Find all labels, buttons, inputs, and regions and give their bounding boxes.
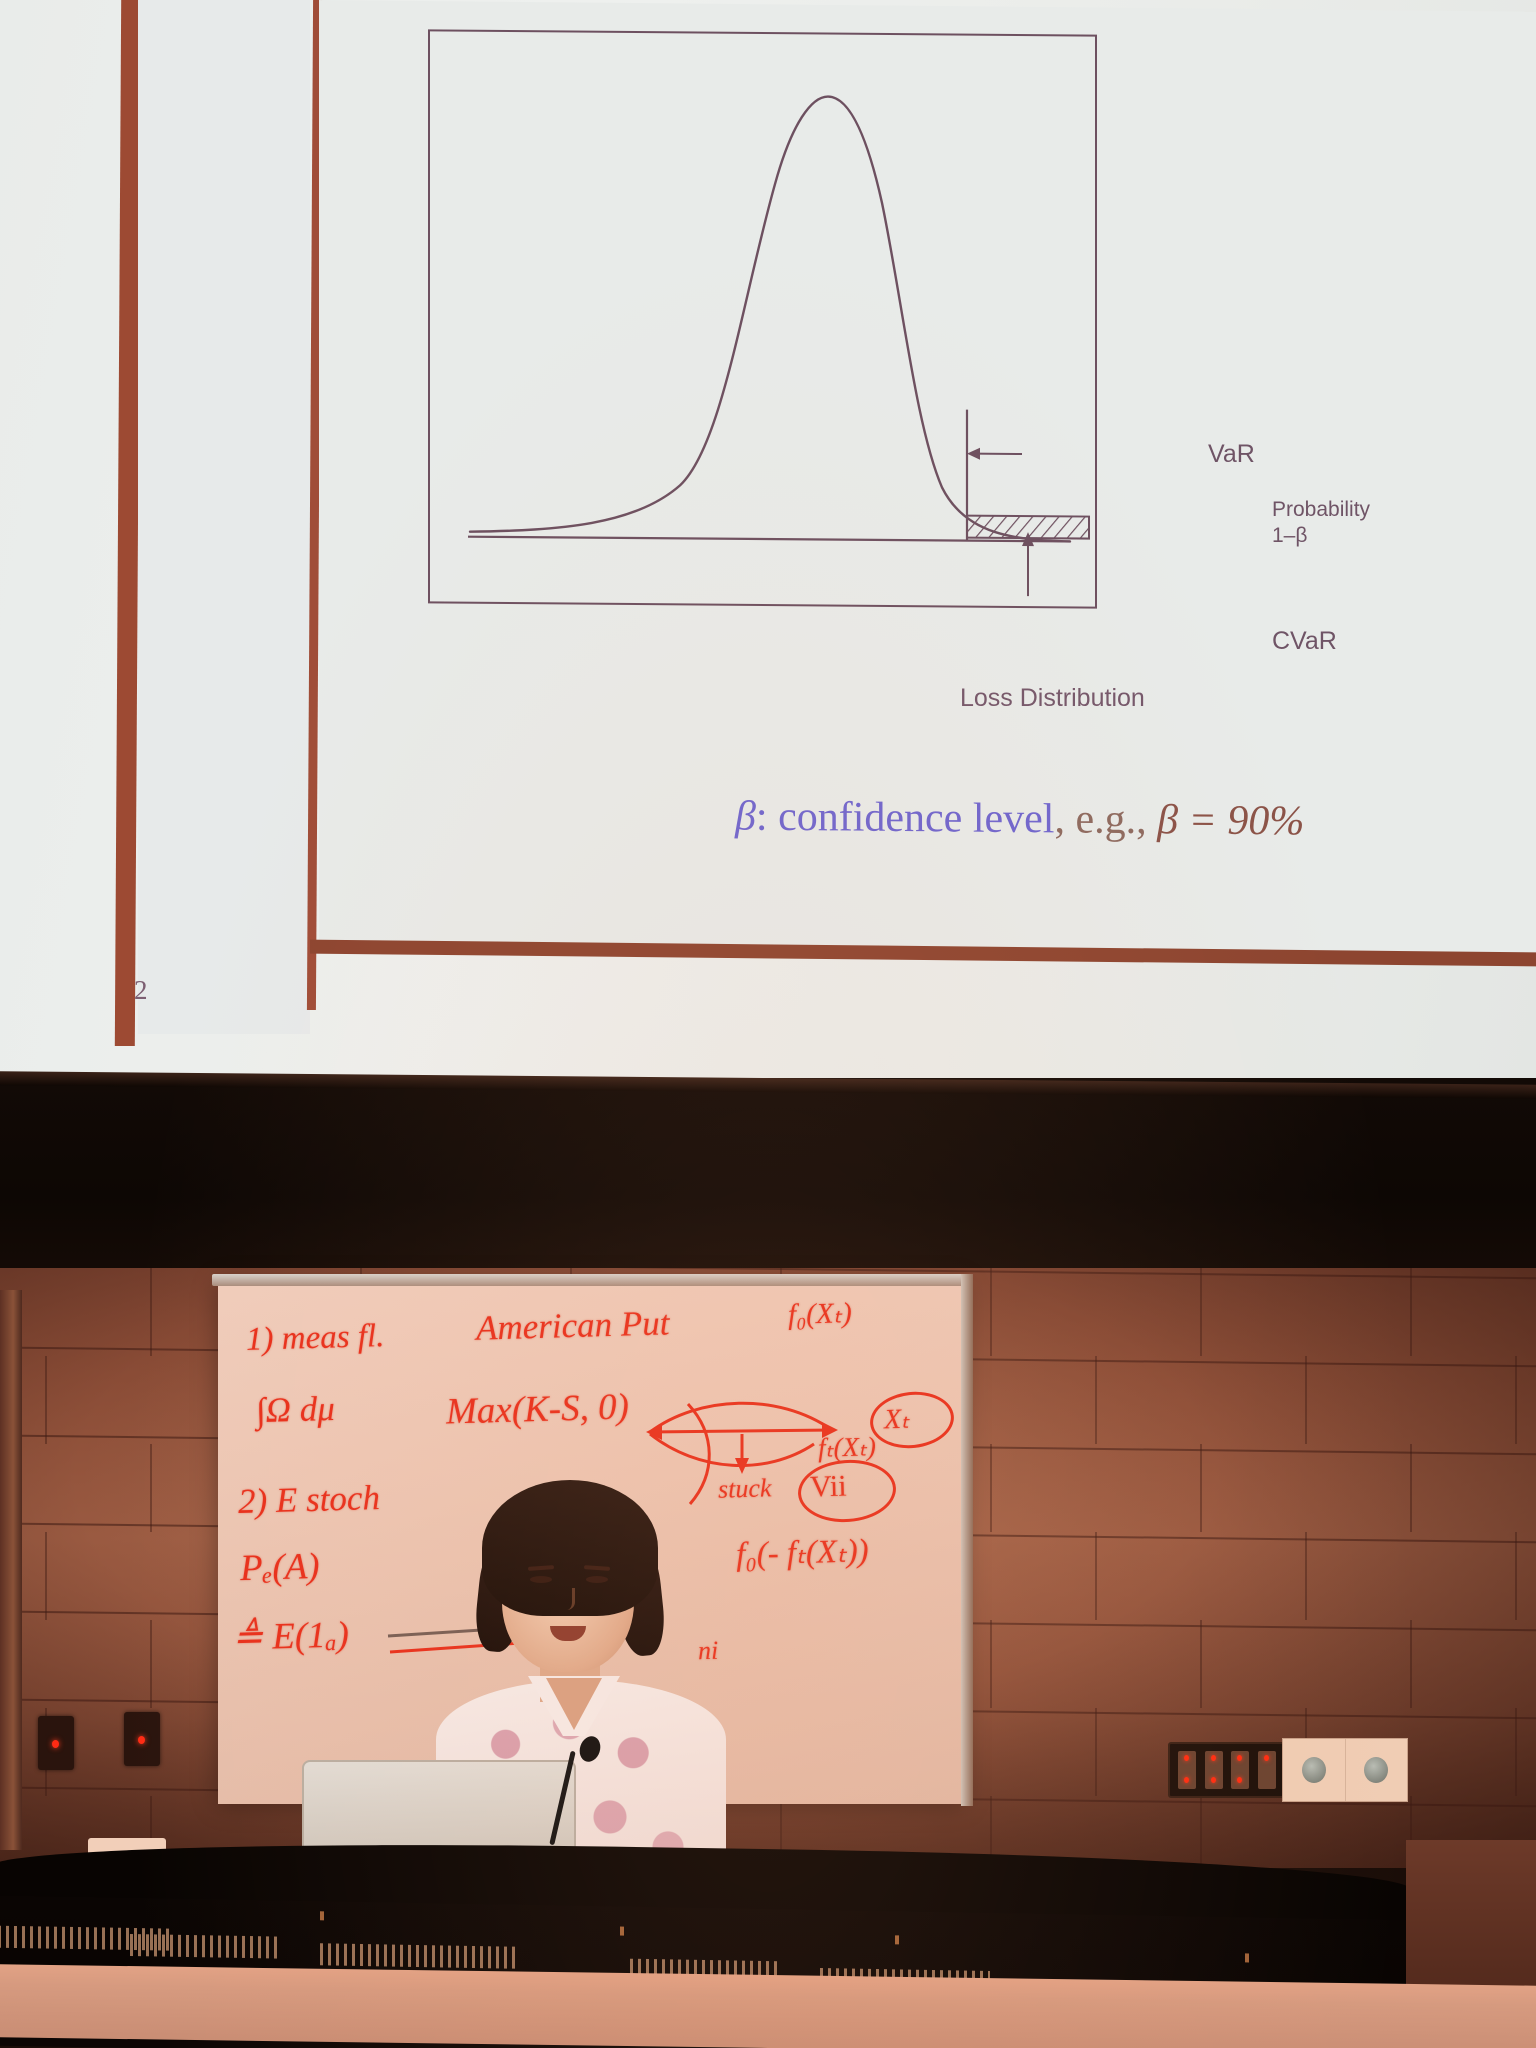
probability-label-line2: 1–β	[1272, 523, 1370, 549]
lectern-strip-3	[320, 1943, 520, 1968]
brick-mortar-joint	[1410, 1620, 1412, 1708]
brick-mortar-joint	[1410, 1444, 1412, 1532]
av-slot-2[interactable]	[1205, 1751, 1223, 1789]
jack-half-right[interactable]	[1346, 1739, 1408, 1801]
wb-line-prob: Pₑ(A)	[239, 1545, 320, 1590]
brick-mortar-joint	[1305, 1532, 1307, 1620]
beta-equation: β = 90%	[1157, 797, 1304, 844]
wb-line-f0-neg: f₀(- fₜ(Xₜ))	[735, 1530, 869, 1574]
lectern-strip-2	[130, 1934, 280, 1959]
wb-line-american-put: American Put	[475, 1303, 669, 1348]
beta-symbol: β	[735, 794, 756, 840]
slide-page-number: 2	[134, 975, 149, 1006]
presenter-eye-right	[586, 1576, 608, 1583]
beta-eg: , e.g.,	[1054, 796, 1157, 843]
brick-mortar-joint	[150, 1268, 152, 1356]
brick-mortar-joint	[45, 1356, 47, 1444]
whiteboard-top-rail	[212, 1274, 969, 1286]
lectern-dot-2	[620, 1927, 624, 1936]
brick-mortar-joint	[1200, 1620, 1202, 1708]
av-slot-1[interactable]	[1178, 1751, 1196, 1789]
figure-caption: Loss Distribution	[960, 684, 1145, 713]
wb-line-payoff: Max(K-S, 0)	[445, 1385, 629, 1433]
wall-panel-left-1	[38, 1716, 74, 1770]
brick-mortar-joint	[1095, 1532, 1097, 1620]
port-icon	[1302, 1757, 1326, 1783]
wb-line-f0: f₀(Xₜ)	[788, 1295, 853, 1332]
wb-circle-vii	[796, 1457, 898, 1526]
wb-line-expect: ≜ E(1ₐ)	[231, 1612, 349, 1659]
brick-mortar-joint	[1515, 1532, 1517, 1620]
red-led-icon	[1184, 1755, 1189, 1761]
red-led-icon	[1237, 1777, 1242, 1783]
jack-half-left[interactable]	[1283, 1739, 1346, 1801]
av-slot-3[interactable]	[1231, 1751, 1249, 1789]
brick-mortar-joint	[1200, 1268, 1202, 1356]
probability-label: Probability 1–β	[1272, 497, 1370, 550]
brick-mortar-joint	[1200, 1796, 1202, 1868]
wb-line-integral: ∫Ω dμ	[255, 1389, 335, 1431]
brick-mortar-joint	[45, 1532, 47, 1620]
brick-mortar-joint	[1305, 1356, 1307, 1444]
lectern-dot-1	[320, 1911, 324, 1920]
var-label: VaR	[1208, 440, 1255, 469]
ceiling-shadow-band	[0, 1078, 1536, 1276]
wb-line-item2: 2) E stoch	[237, 1478, 380, 1522]
brick-mortar-joint	[1515, 1356, 1517, 1444]
beta-colon: :	[756, 794, 768, 840]
red-led-icon	[1264, 1755, 1269, 1761]
beta-text: confidence level	[768, 794, 1055, 843]
adjacent-slide-panel: 2	[138, 0, 310, 1034]
av-slot-4[interactable]	[1258, 1751, 1276, 1789]
red-led-icon	[1237, 1755, 1242, 1761]
distribution-plot-svg	[430, 31, 1095, 606]
cvar-label: CVaR	[1272, 627, 1337, 656]
brick-mortar-joint	[1095, 1356, 1097, 1444]
door-frame	[0, 1290, 22, 1850]
red-led-icon	[138, 1736, 145, 1744]
projection-screen: 2	[0, 0, 1536, 1085]
brick-mortar-joint	[990, 1268, 992, 1356]
brick-mortar-joint	[1515, 1708, 1517, 1796]
beta-confidence-note: β: confidence level, e.g., β = 90%	[735, 793, 1304, 846]
presenter-nose	[560, 1588, 575, 1610]
loss-distribution-figure	[428, 29, 1097, 608]
brick-mortar-joint	[1095, 1708, 1097, 1796]
red-led-icon	[1184, 1777, 1189, 1783]
brick-mortar-joint	[990, 1620, 992, 1708]
wb-circle-xt	[867, 1388, 956, 1452]
brick-mortar-joint	[1200, 1444, 1202, 1532]
lectern-dot-4	[1245, 1953, 1249, 1962]
lecture-photo: 2	[0, 0, 1536, 2048]
brick-mortar-joint	[150, 1444, 152, 1532]
wb-line-item1: 1) meas fl.	[246, 1318, 385, 1359]
red-led-icon	[52, 1740, 59, 1748]
wall-panel-left-2	[124, 1712, 160, 1766]
brick-mortar-joint	[990, 1444, 992, 1532]
brick-mortar-joint	[1410, 1268, 1412, 1356]
port-icon	[1364, 1757, 1388, 1783]
whiteboard-right-rail	[961, 1274, 973, 1806]
presenter-eye-left	[530, 1576, 552, 1583]
lectern-dot-3	[895, 1935, 899, 1944]
probability-label-line1: Probability	[1272, 497, 1370, 523]
jack-plate[interactable]	[1282, 1738, 1408, 1802]
red-led-icon	[1211, 1755, 1216, 1761]
plot-frame	[430, 31, 1095, 606]
brick-mortar-joint	[150, 1620, 152, 1708]
av-control-plate[interactable]	[1168, 1742, 1286, 1798]
red-led-icon	[1211, 1777, 1216, 1783]
